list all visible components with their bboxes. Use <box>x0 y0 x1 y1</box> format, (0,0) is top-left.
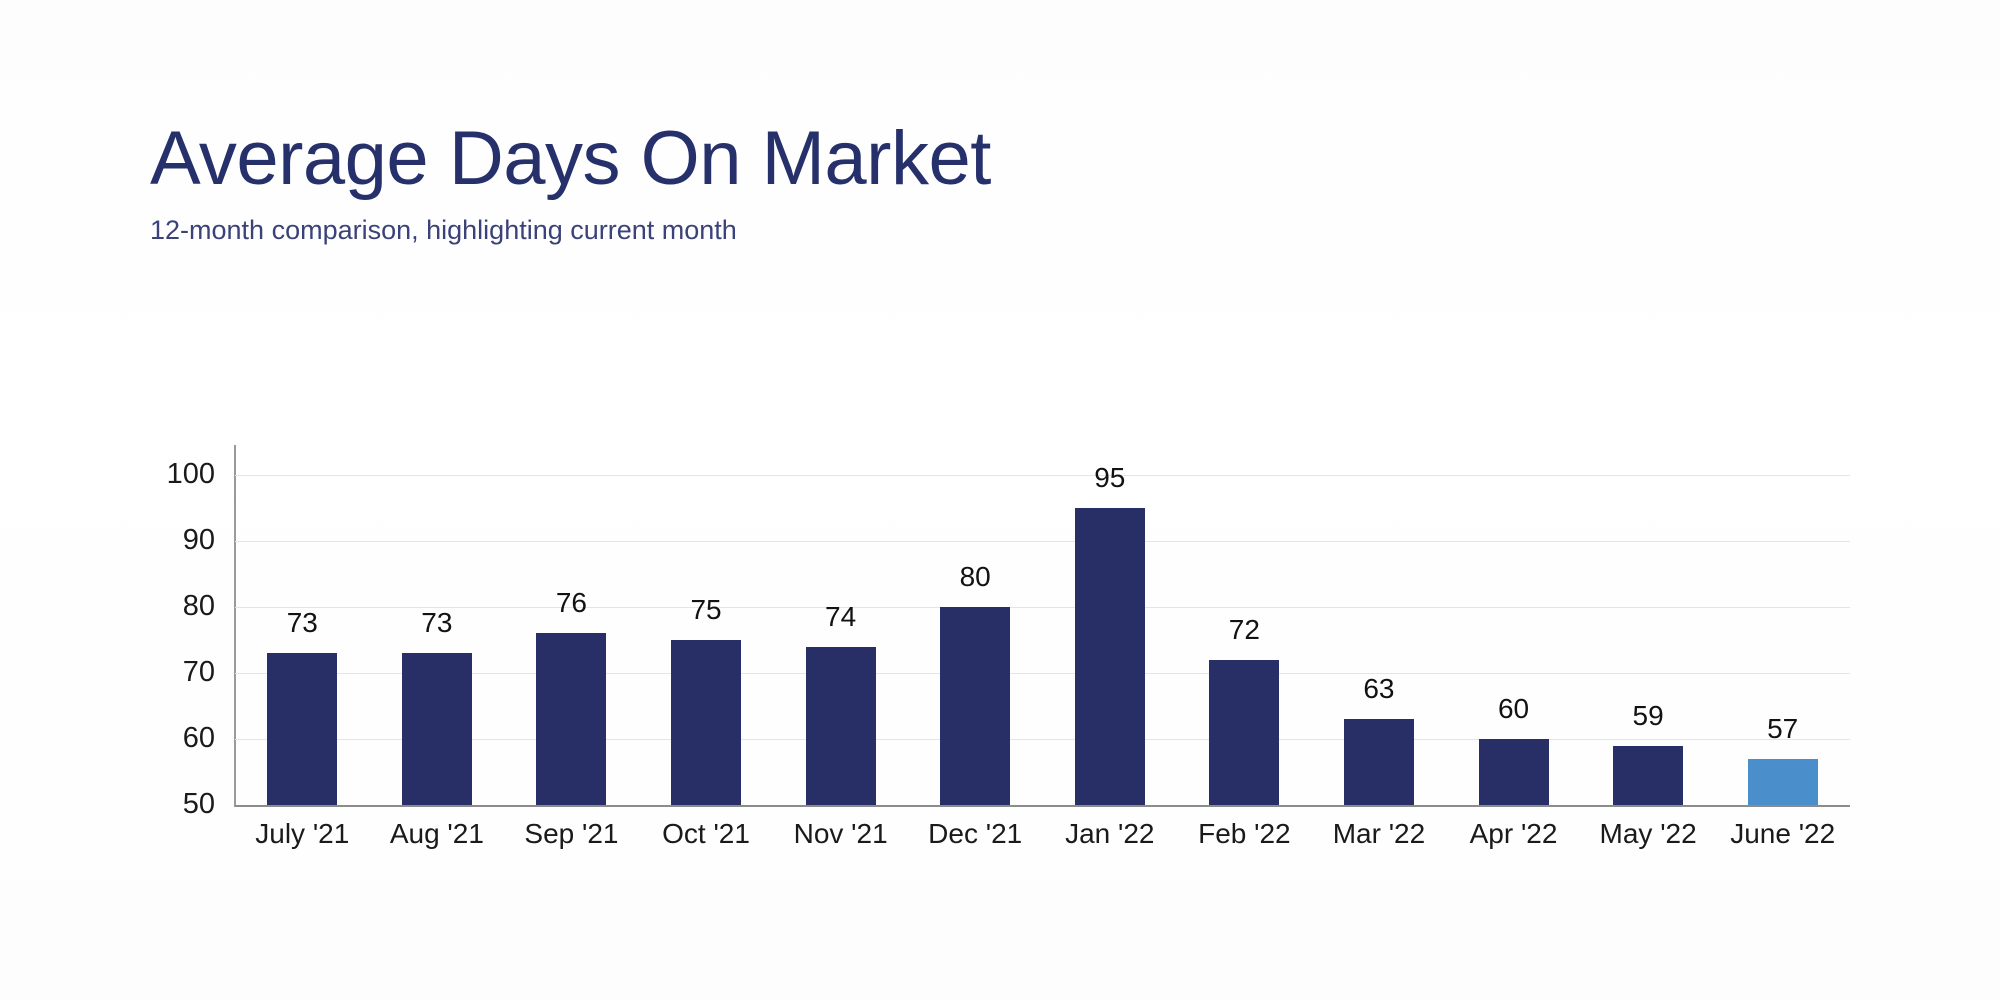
x-axis-tick-label: June '22 <box>1730 818 1835 850</box>
bar[interactable] <box>402 653 472 805</box>
x-axis-tick-label: Apr '22 <box>1470 818 1558 850</box>
bar-group[interactable]: 76 <box>504 475 639 805</box>
bar-value-label: 74 <box>825 601 856 633</box>
bar-highlighted[interactable] <box>1748 759 1818 805</box>
bar-group[interactable]: 59 <box>1581 475 1716 805</box>
bar[interactable] <box>1613 746 1683 805</box>
bar[interactable] <box>267 653 337 805</box>
bar[interactable] <box>671 640 741 805</box>
bar-group[interactable]: 60 <box>1446 475 1581 805</box>
axis-baseline <box>235 805 1850 807</box>
bar-value-label: 76 <box>556 587 587 619</box>
bar-group[interactable]: 80 <box>908 475 1043 805</box>
bar[interactable] <box>1209 660 1279 805</box>
bar[interactable] <box>940 607 1010 805</box>
bar[interactable] <box>806 647 876 805</box>
bar[interactable] <box>1479 739 1549 805</box>
y-axis-tick-label: 70 <box>125 656 215 689</box>
bar[interactable] <box>1344 719 1414 805</box>
chart-canvas: Average Days On Market 12-month comparis… <box>0 0 2000 1000</box>
x-axis-tick-label: July '21 <box>255 818 349 850</box>
bar-value-label: 80 <box>960 561 991 593</box>
y-axis-tick-label: 100 <box>125 458 215 491</box>
y-axis-tick-label: 50 <box>125 788 215 821</box>
bar-value-label: 57 <box>1767 713 1798 745</box>
plot-area: 737376757480957263605957 <box>235 475 1850 805</box>
y-axis-tick-label: 90 <box>125 524 215 557</box>
bar-group[interactable]: 57 <box>1715 475 1850 805</box>
bar-group[interactable]: 75 <box>639 475 774 805</box>
bar-value-label: 75 <box>690 594 721 626</box>
bar-value-label: 95 <box>1094 462 1125 494</box>
bar-group[interactable]: 72 <box>1177 475 1312 805</box>
bar-value-label: 63 <box>1363 673 1394 705</box>
bars-layer: 737376757480957263605957 <box>235 475 1850 805</box>
bar-value-label: 73 <box>287 607 318 639</box>
x-axis-tick-label: Jan '22 <box>1065 818 1154 850</box>
bar-value-label: 59 <box>1633 700 1664 732</box>
x-axis-tick-label: Feb '22 <box>1198 818 1291 850</box>
x-axis-tick-label: Mar '22 <box>1333 818 1426 850</box>
x-axis-tick-label: Aug '21 <box>390 818 484 850</box>
bar-group[interactable]: 73 <box>235 475 370 805</box>
bar-group[interactable]: 95 <box>1043 475 1178 805</box>
x-axis-tick-label: Oct '21 <box>662 818 750 850</box>
y-axis-tick-labels: 5060708090100 <box>120 475 215 805</box>
chart-plot: 5060708090100 737376757480957263605957 J… <box>0 0 2000 1000</box>
bar-group[interactable]: 74 <box>773 475 908 805</box>
bar[interactable] <box>1075 508 1145 805</box>
x-axis-tick-label: Sep '21 <box>524 818 618 850</box>
bar-value-label: 73 <box>421 607 452 639</box>
x-axis-tick-label: May '22 <box>1600 818 1697 850</box>
x-axis-tick-label: Dec '21 <box>928 818 1022 850</box>
bar-value-label: 72 <box>1229 614 1260 646</box>
bar-group[interactable]: 63 <box>1312 475 1447 805</box>
bar-group[interactable]: 73 <box>370 475 505 805</box>
y-axis-tick-label: 80 <box>125 590 215 623</box>
y-axis-tick-label: 60 <box>125 722 215 755</box>
bar-value-label: 60 <box>1498 693 1529 725</box>
x-axis-tick-label: Nov '21 <box>794 818 888 850</box>
bar[interactable] <box>536 633 606 805</box>
